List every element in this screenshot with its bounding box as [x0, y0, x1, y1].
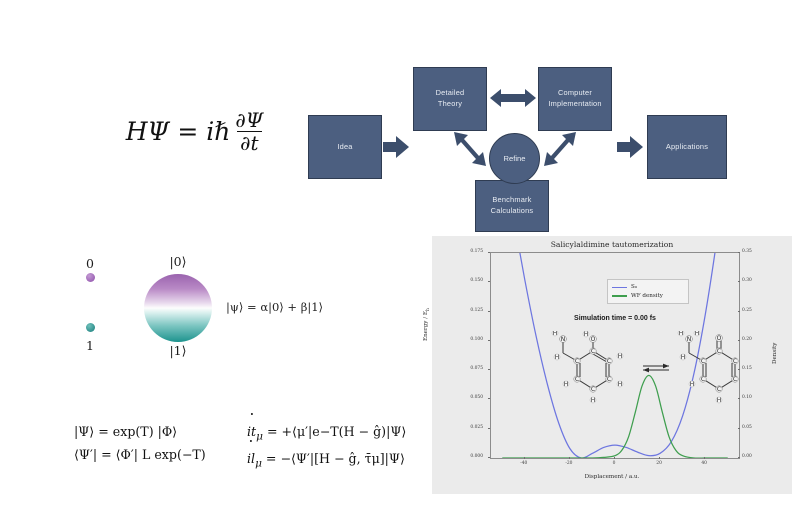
- x-tick-mark: [704, 457, 705, 459]
- flow-box-detailed-theory[interactable]: Detailed Theory: [413, 67, 487, 131]
- cc-l-amplitude-lhs: il: [247, 451, 255, 466]
- y-tick-mark-left: [488, 311, 490, 312]
- flow-box-idea-label: Idea: [334, 142, 355, 153]
- y-tick-mark-right: [738, 398, 740, 399]
- y-tick-mark-left: [488, 340, 490, 341]
- bloch-sphere-icon: [144, 274, 212, 342]
- bit-one-label: 1: [86, 338, 94, 353]
- y-tick-mark-left: [488, 457, 490, 458]
- y-tick-label-right: 0.15: [742, 366, 752, 371]
- molecule-enol-structure: N H H O H C C C C C C H H H H: [547, 331, 639, 411]
- legend-swatch-s0: [612, 287, 627, 288]
- plot-legend: S₀ WF density: [607, 279, 689, 304]
- svg-text:H: H: [584, 331, 589, 338]
- svg-text:H: H: [591, 397, 596, 404]
- flow-hub-refine[interactable]: Refine: [489, 133, 540, 184]
- svg-text:N: N: [561, 336, 566, 343]
- y-tick-label-right: 0.25: [742, 308, 752, 313]
- x-tick-mark: [524, 457, 525, 459]
- svg-text:C: C: [607, 358, 611, 365]
- flow-box-computer-implementation-label: Computer Implementation: [545, 88, 604, 109]
- superposition-equation: |ψ⟩ = α|0⟩ + β|1⟩: [226, 300, 323, 314]
- y-tick-label-left: 0.175: [470, 249, 483, 254]
- flow-box-benchmark-calculations[interactable]: Benchmark Calculations: [475, 180, 549, 232]
- coupled-cluster-equations-right: itμ = +⟨μ′|e−T(H − ĝ)|Ψ⟩ ilμ = −⟨Ψ′|[H −…: [247, 420, 406, 474]
- y-tick-mark-left: [488, 281, 490, 282]
- svg-text:C: C: [701, 376, 705, 383]
- y-tick-label-left: 0.100: [470, 337, 483, 342]
- legend-swatch-wf-density: [612, 295, 627, 296]
- x-axis-title: Displacement / a.u.: [432, 474, 792, 480]
- cc-t-amplitude-subscript: μ: [256, 431, 263, 443]
- svg-text:C: C: [717, 386, 721, 393]
- schrodinger-lhs: HΨ = iℏ: [126, 117, 231, 146]
- schrodinger-derivative-fraction: ∂Ψ∂t: [232, 110, 266, 155]
- bit-zero-dot-icon: [86, 273, 95, 282]
- x-tick-label: 40: [692, 461, 716, 466]
- y-tick-mark-left: [488, 369, 490, 370]
- arrow-theory-computer-bidirectional: [490, 88, 536, 108]
- y-tick-mark-right: [738, 428, 740, 429]
- flow-box-applications[interactable]: Applications: [647, 115, 727, 179]
- y-tick-mark-left: [488, 428, 490, 429]
- cc-t-amplitude-equation: itμ = +⟨μ′|e−T(H − ĝ)|Ψ⟩: [247, 420, 406, 447]
- y-tick-label-left: 0.025: [470, 425, 483, 430]
- y-tick-label-left: 0.000: [470, 454, 483, 459]
- schrodinger-denominator: ∂t: [237, 131, 261, 155]
- y-tick-label-right: 0.00: [742, 454, 752, 459]
- ket-zero-label: |0⟩: [144, 254, 212, 269]
- x-tick-mark: [614, 457, 615, 459]
- x-tick-label: -20: [557, 461, 581, 466]
- tautomer-equilibrium-arrow-icon: [641, 361, 671, 375]
- plot-title: Salicylaldimine tautomerization: [432, 240, 792, 249]
- svg-text:C: C: [575, 358, 579, 365]
- plot-axes-frame: S₀ WF density Simulation time = 0.00 fs …: [490, 252, 740, 459]
- y-tick-label-right: 0.35: [742, 249, 752, 254]
- svg-text:H: H: [555, 354, 560, 361]
- legend-entry-s0: S₀: [612, 283, 684, 292]
- svg-text:H: H: [681, 354, 686, 361]
- y-tick-label-left: 0.150: [470, 278, 483, 283]
- svg-text:H: H: [717, 397, 722, 404]
- ket-one-label: |1⟩: [144, 343, 212, 358]
- svg-text:H: H: [553, 331, 558, 337]
- y-tick-mark-right: [738, 369, 740, 370]
- svg-text:C: C: [701, 358, 705, 365]
- svg-text:C: C: [733, 376, 737, 383]
- svg-text:H: H: [564, 381, 569, 388]
- svg-text:O: O: [717, 335, 722, 342]
- svg-text:C: C: [591, 386, 595, 393]
- y-tick-mark-right: [738, 457, 740, 458]
- arrow-theory-benchmark-bidirectional: [452, 130, 488, 172]
- svg-text:C: C: [733, 358, 737, 365]
- svg-text:H: H: [618, 381, 623, 388]
- flow-box-applications-label: Applications: [663, 142, 711, 153]
- arrow-refine-to-applications: [617, 135, 644, 159]
- y-axis-left-title: Energy / Eh: [423, 308, 431, 341]
- arrow-computer-benchmark-bidirectional: [542, 130, 578, 172]
- svg-text:H: H: [690, 381, 695, 388]
- y-tick-mark-right: [738, 252, 740, 253]
- y-tick-label-left: 0.050: [470, 395, 483, 400]
- cc-l-amplitude-equation: ilμ = −⟨Ψ′|[H − ĝ, τ̄μ]|Ψ⟩: [247, 447, 406, 474]
- bit-one-dot-icon: [86, 323, 95, 332]
- y-tick-mark-right: [738, 281, 740, 282]
- simulation-plot-panel: Salicylaldimine tautomerization S₀ WF de…: [432, 236, 792, 494]
- cc-l-amplitude-rhs: = −⟨Ψ′|[H − ĝ, τ̄μ]|Ψ⟩: [266, 451, 405, 466]
- y-tick-label-left: 0.125: [470, 308, 483, 313]
- simulation-time-label: Simulation time = 0.00 fs: [491, 315, 739, 322]
- legend-label-wf-density: WF density: [631, 292, 663, 301]
- x-tick-label: 20: [647, 461, 671, 466]
- y-tick-mark-right: [738, 340, 740, 341]
- flow-box-detailed-theory-label: Detailed Theory: [433, 88, 468, 109]
- y-tick-label-left: 0.075: [470, 366, 483, 371]
- arrow-idea-to-theory: [383, 135, 410, 159]
- y-tick-label-right: 0.05: [742, 425, 752, 430]
- cc-wavefunction-ket: |Ψ⟩ = exp(T) |Φ⟩: [74, 420, 206, 443]
- x-tick-mark: [659, 457, 660, 459]
- qubit-illustration: 0 1 |0⟩ |1⟩ |ψ⟩ = α|0⟩ + β|1⟩: [78, 250, 338, 370]
- flow-box-computer-implementation[interactable]: Computer Implementation: [538, 67, 612, 131]
- y-tick-mark-left: [488, 252, 490, 253]
- svg-text:O: O: [591, 336, 596, 343]
- svg-text:H: H: [695, 331, 700, 337]
- y-tick-label-right: 0.10: [742, 395, 752, 400]
- legend-entry-wf-density: WF density: [612, 292, 684, 301]
- svg-text:C: C: [717, 348, 721, 355]
- svg-text:C: C: [575, 376, 579, 383]
- svg-text:H: H: [679, 331, 684, 337]
- svg-text:C: C: [607, 376, 611, 383]
- svg-text:N: N: [687, 336, 692, 343]
- y-tick-mark-right: [738, 311, 740, 312]
- coupled-cluster-equations-left: |Ψ⟩ = exp(T) |Φ⟩ ⟨Ψ′| = ⟨Φ′| L exp(−T): [74, 420, 206, 467]
- schrodinger-equation: HΨ = iℏ∂Ψ∂t: [96, 96, 296, 166]
- flow-box-idea[interactable]: Idea: [308, 115, 382, 179]
- x-tick-mark: [569, 457, 570, 459]
- y-tick-label-right: 0.30: [742, 278, 752, 283]
- schrodinger-numerator: ∂Ψ: [232, 110, 266, 131]
- x-tick-label: 0: [602, 461, 626, 466]
- workflow-diagram: Idea Detailed Theory Computer Implementa…: [300, 52, 730, 242]
- svg-text:H: H: [618, 353, 623, 360]
- svg-text:C: C: [591, 348, 595, 355]
- flow-box-benchmark-calculations-label: Benchmark Calculations: [488, 195, 537, 216]
- legend-label-s0: S₀: [631, 283, 637, 292]
- cc-t-amplitude-rhs: = +⟨μ′|e−T(H − ĝ)|Ψ⟩: [267, 424, 406, 439]
- flow-hub-refine-label: Refine: [504, 154, 526, 163]
- x-tick-label: -40: [512, 461, 536, 466]
- cc-wavefunction-bra: ⟨Ψ′| = ⟨Φ′| L exp(−T): [74, 443, 206, 466]
- y-tick-label-right: 0.20: [742, 337, 752, 342]
- cc-t-amplitude-lhs: it: [247, 424, 256, 439]
- bit-zero-label: 0: [86, 256, 94, 271]
- cc-l-amplitude-subscript: μ: [255, 457, 262, 469]
- y-axis-right-title: Density: [772, 343, 778, 364]
- y-tick-mark-left: [488, 398, 490, 399]
- molecule-keto-structure: N H H H O C C C C C C H H H H: [673, 331, 740, 411]
